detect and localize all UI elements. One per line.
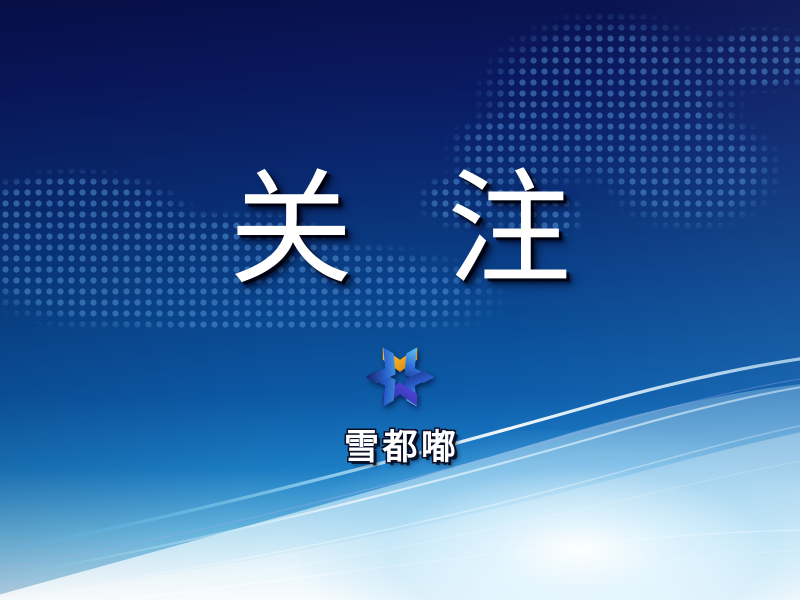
page-title: 关 注 <box>202 168 599 292</box>
presentation-slide: 关 注 <box>0 0 800 600</box>
six-point-star-logo <box>357 334 443 420</box>
subtitle: 雪都嘟 <box>340 430 459 465</box>
title-container: 关 注 <box>0 168 800 292</box>
logo-container <box>0 334 800 424</box>
subtitle-container: 雪都嘟 <box>0 430 800 465</box>
